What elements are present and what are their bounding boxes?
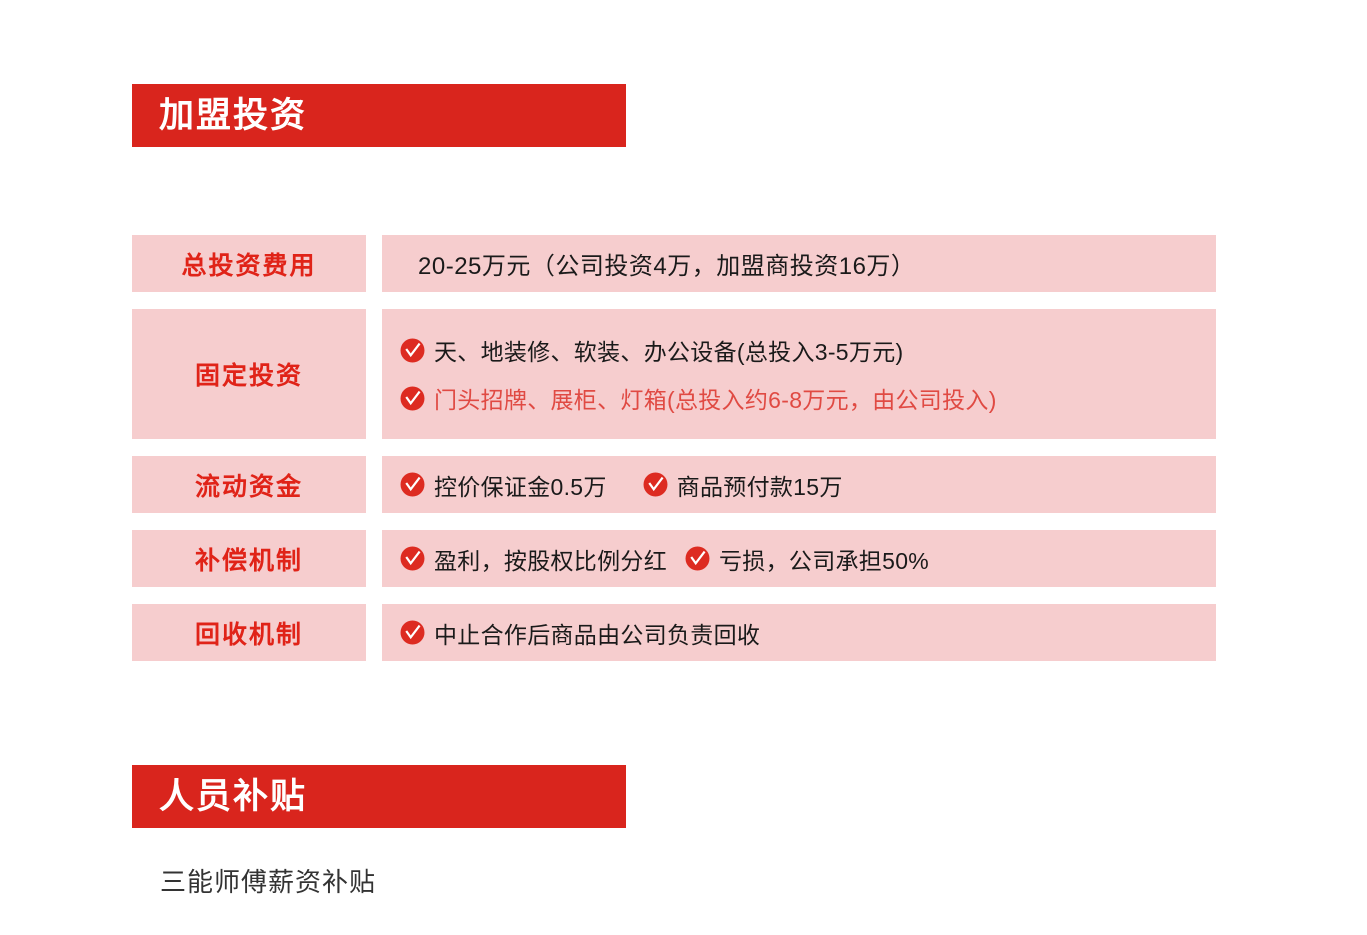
table-row: 补偿机制 盈利，按股权比例分红 [132, 530, 1216, 587]
table-row: 总投资费用 20-25万元（公司投资4万，加盟商投资16万） [132, 235, 1216, 292]
row-content-compensation: 盈利，按股权比例分红 亏损，公司承担50% [382, 530, 1216, 587]
section-header-invest: 加盟投资 [132, 84, 626, 147]
bullet-line: 天、地装修、软装、办公设备(总投入3-5万元) [400, 333, 1198, 367]
row-label-working-capital: 流动资金 [132, 456, 366, 513]
check-circle-icon [400, 546, 425, 571]
bullet-item: 亏损，公司承担50% [685, 542, 929, 576]
bullet-text: 盈利，按股权比例分红 [434, 542, 667, 576]
bullet-item: 商品预付款15万 [643, 468, 843, 502]
bullet-text: 天、地装修、软装、办公设备(总投入3-5万元) [434, 333, 903, 367]
bullet-item: 中止合作后商品由公司负责回收 [400, 616, 760, 650]
check-circle-icon [685, 546, 710, 571]
row-content-total-investment: 20-25万元（公司投资4万，加盟商投资16万） [382, 235, 1216, 292]
check-circle-icon [400, 386, 425, 411]
bullet-text: 控价保证金0.5万 [434, 468, 607, 502]
bullet-item: 盈利，按股权比例分红 [400, 542, 667, 576]
bullet-text: 中止合作后商品由公司负责回收 [434, 616, 760, 650]
bullet-text: 商品预付款15万 [677, 468, 843, 502]
bullet-line: 中止合作后商品由公司负责回收 [400, 616, 1198, 650]
row-content-working-capital: 控价保证金0.5万 商品预付款15万 [382, 456, 1216, 513]
check-circle-icon [643, 472, 668, 497]
row-label-compensation: 补偿机制 [132, 530, 366, 587]
row-label-buyback: 回收机制 [132, 604, 366, 661]
check-circle-icon [400, 338, 425, 363]
check-circle-icon [400, 472, 425, 497]
investment-table: 总投资费用 20-25万元（公司投资4万，加盟商投资16万） 固定投资 天、地装… [132, 235, 1216, 661]
row-label-total-investment: 总投资费用 [132, 235, 366, 292]
row-label-fixed-investment: 固定投资 [132, 309, 366, 439]
bullet-item: 控价保证金0.5万 [400, 468, 607, 502]
table-row: 固定投资 天、地装修、软装、办公设备(总投入3-5万元) [132, 309, 1216, 439]
row-content-buyback: 中止合作后商品由公司负责回收 [382, 604, 1216, 661]
bullet-line: 盈利，按股权比例分红 亏损，公司承担50% [400, 542, 1198, 576]
row-content-fixed-investment: 天、地装修、软装、办公设备(总投入3-5万元) 门头招牌、展柜、灯箱(总投入约6… [382, 309, 1216, 439]
subsidy-note-text: 三能师傅薪资补贴 [160, 862, 376, 899]
table-row: 流动资金 控价保证金0.5万 [132, 456, 1216, 513]
bullet-line: 门头招牌、展柜、灯箱(总投入约6-8万元，由公司投入) [400, 381, 1198, 415]
table-row: 回收机制 中止合作后商品由公司负责回收 [132, 604, 1216, 661]
bullet-text: 亏损，公司承担50% [719, 542, 929, 576]
bullet-line: 控价保证金0.5万 商品预付款15万 [400, 468, 1198, 502]
bullet-text: 门头招牌、展柜、灯箱(总投入约6-8万元，由公司投入) [434, 381, 997, 415]
row-value-text: 20-25万元（公司投资4万，加盟商投资16万） [400, 246, 1198, 281]
section-title-subsidy: 人员补贴 [159, 779, 307, 814]
section-header-subsidy: 人员补贴 [132, 765, 626, 828]
section-title-invest: 加盟投资 [159, 98, 307, 133]
check-circle-icon [400, 620, 425, 645]
